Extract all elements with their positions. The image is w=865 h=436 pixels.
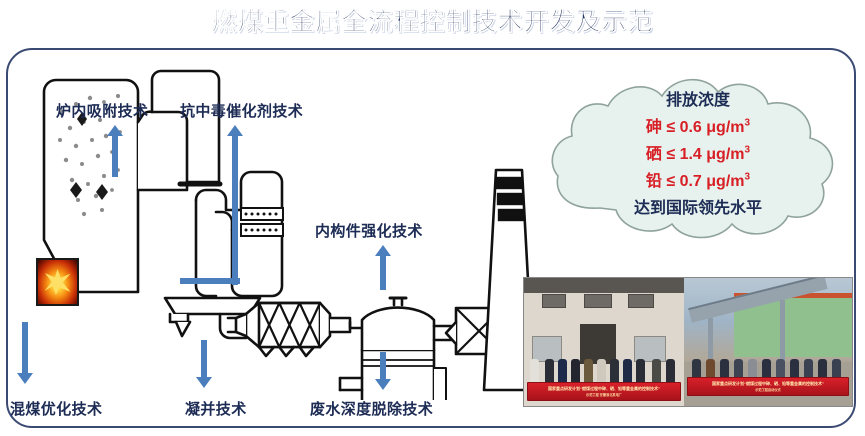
cloud-title: 排放浓度 (548, 86, 848, 110)
elbow-catalyst-link (180, 278, 240, 284)
site-photo-group: 国家重点研发计划“燃煤过程中砷、硒、铅等重金属的控制技术” 示范工程 安徽淮北某… (523, 277, 853, 407)
arrow-up-in-furnace-sorbent (107, 125, 123, 177)
photo1-window (542, 294, 566, 308)
label-internals-enhancement: 内构件强化技术 (315, 220, 423, 241)
label-anti-poisoning-catalyst: 抗中毒催化剂技术 (180, 100, 303, 121)
emission-concentration-cloud: 排放浓度 砷 ≤ 0.6 μg/m3 硒 ≤ 1.4 μg/m3 铅 ≤ 0.7… (548, 58, 848, 258)
label-in-furnace-sorbent: 炉内吸附技术 (56, 100, 148, 121)
photo2-red-banner: 国家重点研发计划“燃煤过程中砷、硒、铅等重金属的控制技术” 示范工程启动仪式 (687, 377, 848, 396)
label-coal-blending: 混煤优化技术 (10, 398, 102, 419)
emission-limit-arsenic: 砷 ≤ 0.6 μg/m3 (548, 113, 848, 137)
label-agglomeration: 凝并技术 (185, 398, 247, 419)
photo1-window (628, 294, 654, 308)
photo-plant-building-group: 国家重点研发计划“燃煤过程中砷、硒、铅等重金属的控制技术” 示范工程 安徽淮北某… (524, 278, 684, 406)
arrow-down-agglomeration (196, 340, 212, 388)
emission-limit-lead: 铅 ≤ 0.7 μg/m3 (548, 167, 848, 191)
slide-canvas: 燃煤重金属全流程控制技术开发及示范 (0, 0, 865, 436)
cloud-footer-text: 达到国际领先水平 (548, 194, 848, 218)
photo-plant-yard-group: 国家重点研发计划“燃煤过程中砷、硒、铅等重金属的控制技术” 示范工程启动仪式 (684, 278, 852, 406)
arrow-down-coal-blending (17, 322, 33, 384)
flame-icon (36, 258, 79, 306)
arrow-up-anti-poisoning-catalyst (227, 125, 243, 285)
arrow-up-internals-enhancement (375, 245, 391, 290)
photo2-banner-text: 国家重点研发计划“燃煤过程中砷、硒、铅等重金属的控制技术” (688, 378, 847, 388)
photo1-window (584, 294, 612, 308)
photo1-red-banner: 国家重点研发计划“燃煤过程中砷、硒、铅等重金属的控制技术” 示范工程 安徽淮北某… (527, 382, 681, 401)
emission-limit-selenium: 硒 ≤ 1.4 μg/m3 (548, 140, 848, 164)
photo1-banner-text: 国家重点研发计划“燃煤过程中砷、硒、铅等重金属的控制技术” (528, 383, 680, 393)
photo1-roof (524, 278, 684, 293)
photo2-banner-subtext: 示范工程启动仪式 (688, 388, 847, 393)
page-title: 燃煤重金属全流程控制技术开发及示范 (0, 6, 865, 38)
photo1-banner-subtext: 示范工程 安徽淮北某电厂 (528, 393, 680, 398)
arrow-down-wastewater-removal (375, 352, 391, 390)
label-wastewater-removal: 废水深度脱除技术 (310, 398, 433, 419)
